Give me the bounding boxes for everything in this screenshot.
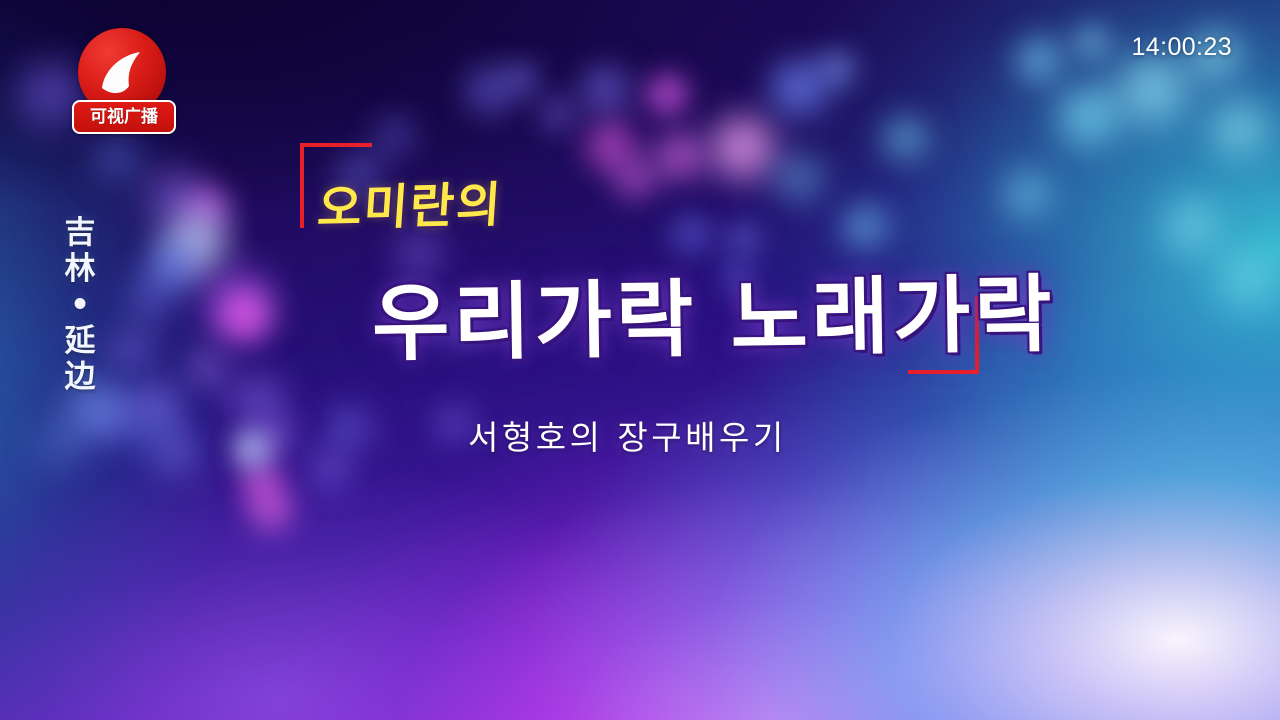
bokeh-dot [882,116,930,164]
bokeh-dot [250,490,294,534]
region-char-1: 林 [65,254,96,285]
logo-banner-text: 可视广播 [90,109,158,126]
bokeh-dot [394,230,446,282]
bokeh-dot [580,66,632,118]
bokeh-dot [719,260,755,296]
bokeh-dot [654,132,706,184]
bokeh-dot [774,154,826,206]
bokeh-dot [1002,170,1054,222]
region-label: 吉 林 • 延 边 [58,218,102,393]
bokeh-dot [433,308,477,352]
bokeh-dot [1162,198,1222,258]
bokeh-dot [308,448,352,492]
region-char-3: 延 [65,326,96,357]
bokeh-dot [128,276,176,324]
bokeh-dot [614,158,658,202]
bokeh-dot [136,382,180,426]
bokeh-dot [1058,86,1122,150]
bokeh-dot [1072,24,1112,64]
bokeh-dot [92,134,144,186]
bokeh-dot [186,348,230,392]
bokeh-dot [538,95,578,135]
region-char-2: • [70,290,90,321]
bokeh-dot [670,214,714,258]
region-char-4: 边 [65,362,96,393]
bokeh-dot [373,116,417,160]
bokeh-dot [220,292,272,344]
bokeh-dot [724,220,764,260]
bokeh-dot [842,204,890,252]
bokeh-dot [108,328,156,376]
station-logo: 可视广播 [72,28,172,136]
bokeh-dot [336,152,384,200]
bokeh-dot [326,406,374,454]
bokeh-dot [710,116,778,184]
clock-timestamp: 14:00:23 [1131,33,1232,62]
bokeh-dot [1116,54,1192,130]
bokeh-dot [235,435,275,475]
bokeh-dot [1218,252,1278,312]
bokeh-dot [1016,38,1064,86]
logo-swoosh-icon [96,46,152,102]
bokeh-dot [435,405,475,445]
broadcast-title-card: 可视广播 吉 林 • 延 边 14:00:23 오미란의 우리가락 노래가락 서… [0,0,1280,720]
logo-banner: 可视广播 [72,100,176,134]
bokeh-dot [1210,100,1270,160]
bokeh-dot [503,60,543,100]
bokeh-dot [646,74,690,118]
bokeh-dot [818,50,858,90]
region-char-0: 吉 [65,218,96,249]
bokeh-lights-layer [0,0,1280,720]
